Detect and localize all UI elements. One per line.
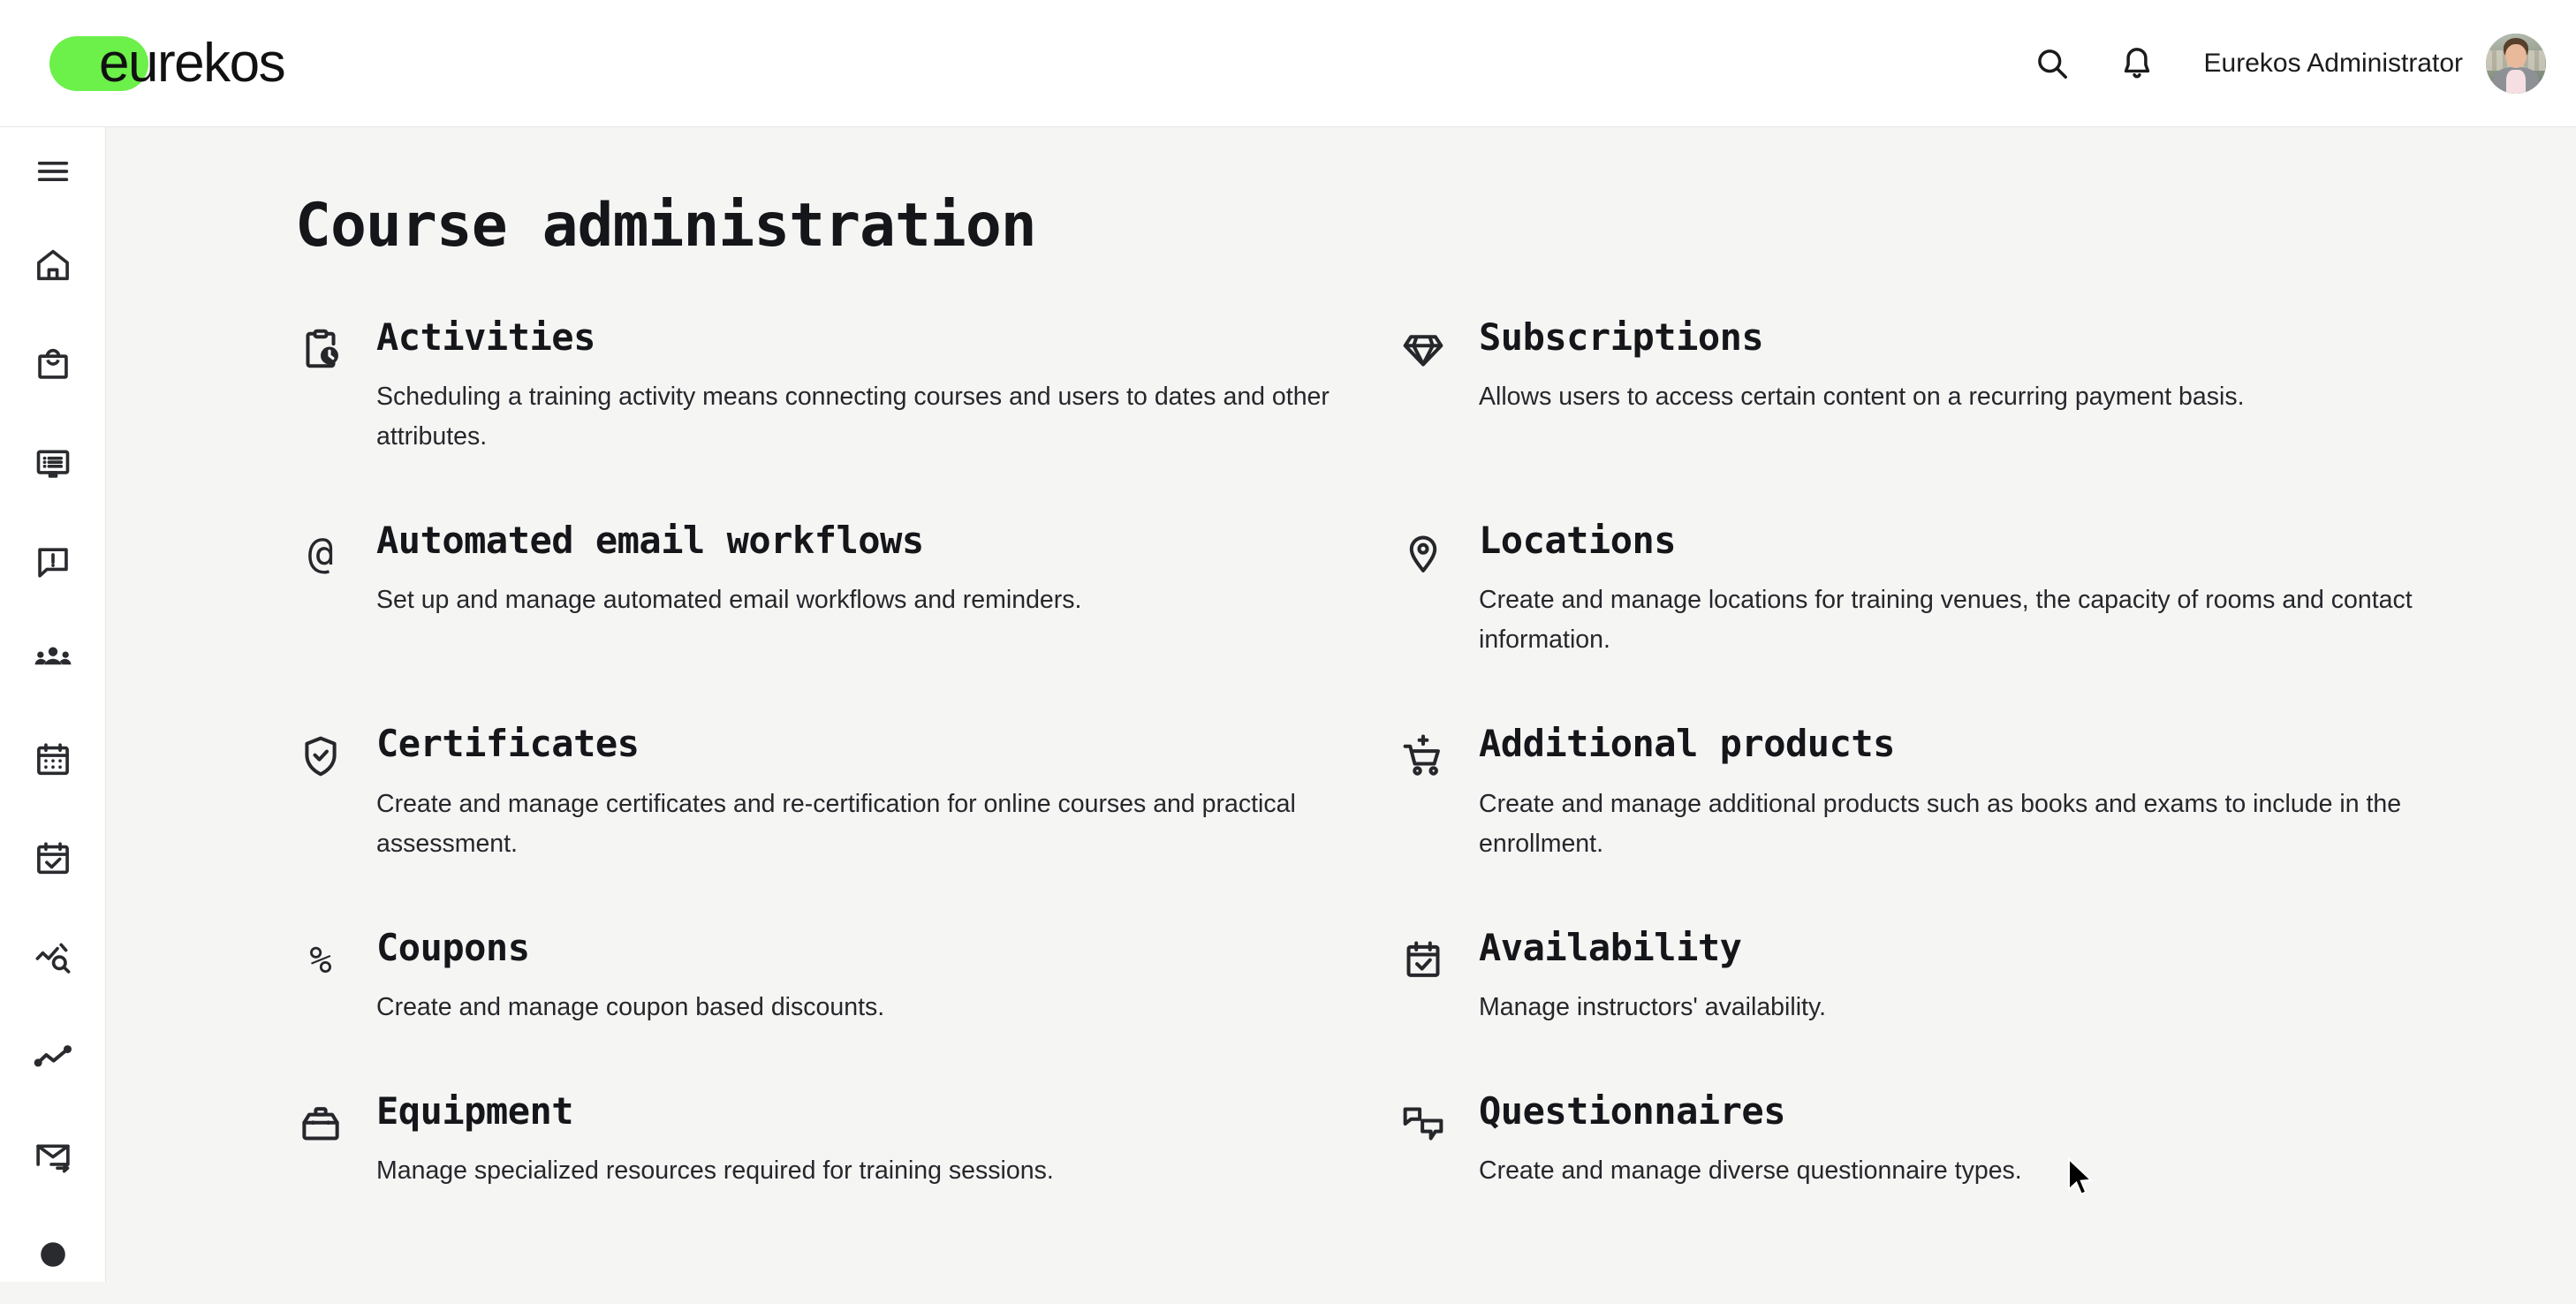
card-description: Allows users to access certain content o… xyxy=(1479,377,2468,417)
card-description: Create and manage additional products su… xyxy=(1479,785,2468,864)
shield-check-icon xyxy=(295,731,346,782)
card-body: Availability Manage instructors' availab… xyxy=(1479,928,2486,1027)
card-automated-email-workflows[interactable]: @ Automated email workflows Set up and m… xyxy=(295,520,1383,724)
card-title: Locations xyxy=(1479,520,2486,561)
card-description: Create and manage certificates and re-ce… xyxy=(376,785,1366,864)
card-title: Certificates xyxy=(376,724,1383,764)
diamond-icon xyxy=(1398,324,1449,375)
card-body: Questionnaires Create and manage diverse… xyxy=(1479,1091,2486,1191)
card-activities[interactable]: Activities Scheduling a training activit… xyxy=(295,317,1383,520)
card-body: Subscriptions Allows users to access cer… xyxy=(1479,317,2486,417)
sidebar-item-messages[interactable] xyxy=(0,512,106,611)
card-title: Activities xyxy=(376,317,1383,358)
card-description: Create and manage locations for training… xyxy=(1479,580,2468,660)
header-actions: Eurekos Administrator xyxy=(2010,0,2546,127)
sidebar-item-catalog[interactable] xyxy=(0,315,106,413)
card-locations[interactable]: Locations Create and manage locations fo… xyxy=(1398,520,2486,724)
monitor-list-icon xyxy=(33,443,73,483)
card-body: Coupons Create and manage coupon based d… xyxy=(376,928,1383,1027)
at-sign-icon: @ xyxy=(295,527,346,579)
logo-text: eurekos xyxy=(99,32,284,95)
sidebar-item-courses[interactable] xyxy=(0,413,106,512)
calendar-check-icon xyxy=(1398,935,1449,986)
card-description: Set up and manage automated email workfl… xyxy=(376,580,1366,620)
card-title: Availability xyxy=(1479,928,2486,968)
search-button[interactable] xyxy=(2010,21,2095,106)
sidebar-item-more[interactable] xyxy=(0,1205,106,1304)
shopping-bag-icon xyxy=(33,344,73,384)
bell-icon xyxy=(2118,44,2156,83)
card-title: Additional products xyxy=(1479,724,2486,764)
left-nav-rail xyxy=(0,127,106,1282)
main-content: Course administration Activities Schedul… xyxy=(106,127,2576,1282)
card-description: Manage specialized resources required fo… xyxy=(376,1151,1366,1191)
card-title: Questionnaires xyxy=(1479,1091,2486,1132)
sidebar-item-email[interactable] xyxy=(0,1106,106,1205)
card-availability[interactable]: Availability Manage instructors' availab… xyxy=(1398,928,2486,1091)
sidebar-item-home[interactable] xyxy=(0,216,106,315)
avatar-face xyxy=(2505,44,2526,68)
partial-icon xyxy=(33,1234,73,1275)
card-body: Additional products Create and manage ad… xyxy=(1479,724,2486,863)
card-description: Scheduling a training activity means con… xyxy=(376,377,1366,457)
trend-line-icon xyxy=(33,1036,73,1077)
card-body: Activities Scheduling a training activit… xyxy=(376,317,1383,457)
calendar-icon xyxy=(33,739,73,780)
sidebar-item-calendar[interactable] xyxy=(0,710,106,809)
hamburger-menu-icon xyxy=(33,151,73,192)
admin-card-grid: Activities Scheduling a training activit… xyxy=(295,317,2486,1255)
calendar-check-icon xyxy=(33,838,73,879)
home-icon xyxy=(33,245,73,285)
card-title: Coupons xyxy=(376,928,1383,968)
toolbox-icon xyxy=(295,1098,346,1149)
card-coupons[interactable]: % Coupons Create and manage coupon based… xyxy=(295,928,1383,1091)
card-certificates[interactable]: Certificates Create and manage certifica… xyxy=(295,724,1383,927)
clipboard-clock-icon xyxy=(295,324,346,375)
card-title: Automated email workflows xyxy=(376,520,1383,561)
notifications-button[interactable] xyxy=(2095,21,2179,106)
card-body: Automated email workflows Set up and man… xyxy=(376,520,1383,620)
sidebar-item-reports[interactable] xyxy=(0,1007,106,1106)
card-body: Equipment Manage specialized resources r… xyxy=(376,1091,1383,1191)
search-icon xyxy=(2033,44,2072,83)
cart-plus-icon xyxy=(1398,731,1449,782)
card-title: Equipment xyxy=(376,1091,1383,1132)
percent-icon: % xyxy=(295,935,346,986)
speech-bubbles-icon xyxy=(1398,1098,1449,1149)
card-equipment[interactable]: Equipment Manage specialized resources r… xyxy=(295,1091,1383,1255)
card-body: Locations Create and manage locations fo… xyxy=(1479,520,2486,660)
card-subscriptions[interactable]: Subscriptions Allows users to access cer… xyxy=(1398,317,2486,520)
card-description: Manage instructors' availability. xyxy=(1479,988,2468,1027)
app-header: eurekos Eurekos Administrator xyxy=(0,0,2576,127)
avatar-shirt xyxy=(2506,70,2526,94)
sidebar-item-users[interactable] xyxy=(0,611,106,710)
card-additional-products[interactable]: Additional products Create and manage ad… xyxy=(1398,724,2486,927)
sidebar-item-bookings[interactable] xyxy=(0,809,106,908)
sidebar-item-menu-toggle[interactable] xyxy=(0,127,106,216)
card-questionnaires[interactable]: Questionnaires Create and manage diverse… xyxy=(1398,1091,2486,1255)
mail-send-icon xyxy=(33,1135,73,1176)
map-pin-icon xyxy=(1398,527,1449,579)
avatar[interactable] xyxy=(2486,34,2546,94)
analytics-search-icon xyxy=(33,937,73,978)
brand-logo[interactable]: eurekos xyxy=(49,32,284,95)
card-body: Certificates Create and manage certifica… xyxy=(376,724,1383,863)
chat-alert-icon xyxy=(33,542,73,582)
card-description: Create and manage diverse questionnaire … xyxy=(1479,1151,2468,1191)
page-title: Course administration xyxy=(295,191,2576,261)
users-group-icon xyxy=(33,641,73,681)
user-name-label: Eurekos Administrator xyxy=(2204,49,2463,79)
card-description: Create and manage coupon based discounts… xyxy=(376,988,1366,1027)
card-title: Subscriptions xyxy=(1479,317,2486,358)
sidebar-item-insights[interactable] xyxy=(0,908,106,1007)
